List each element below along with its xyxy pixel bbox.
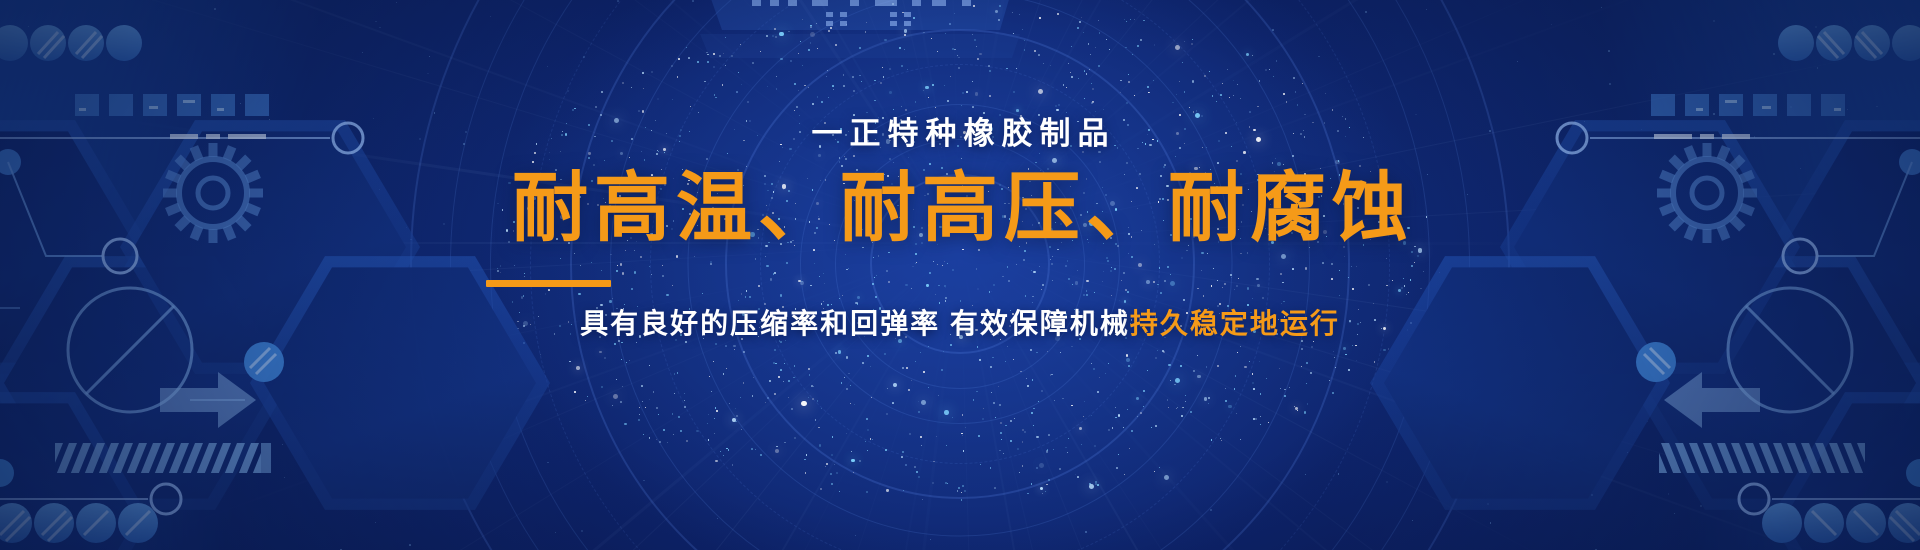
node-sphere-right (1620, 338, 1680, 398)
subline-plain: 具有良好的压缩率和回弹率 有效保障机械 (580, 308, 1130, 339)
arrow-right-icon (160, 362, 290, 452)
banner-subline: 具有良好的压缩率和回弹率 有效保障机械持久稳定地运行 (0, 310, 1920, 338)
banner-content: 一正特种橡胶制品 耐高温、耐高压、耐腐蚀 具有良好的压缩率和回弹率 有效保障机械… (0, 118, 1920, 338)
lower-bus-right (1710, 465, 1920, 505)
hero-banner: 一正特种橡胶制品 耐高温、耐高压、耐腐蚀 具有良好的压缩率和回弹率 有效保障机械… (0, 0, 1920, 550)
lower-bus-left (0, 465, 210, 505)
circle-row-bottom-right (1614, 495, 1920, 550)
arrow-left-icon (1630, 362, 1760, 452)
subline-highlight: 持久稳定地运行 (1130, 308, 1340, 339)
banner-eyebrow: 一正特种橡胶制品 (0, 118, 1920, 149)
accent-divider (486, 280, 611, 287)
banner-headline: 耐高温、耐高压、耐腐蚀 (0, 171, 1920, 247)
striped-bar-left (55, 443, 325, 473)
circle-row-top-right (1610, 18, 1920, 78)
circle-row-bottom-left (0, 495, 306, 550)
node-sphere-left (240, 338, 300, 398)
circle-row-top-left (0, 18, 310, 78)
striped-bar-right (1595, 443, 1865, 473)
